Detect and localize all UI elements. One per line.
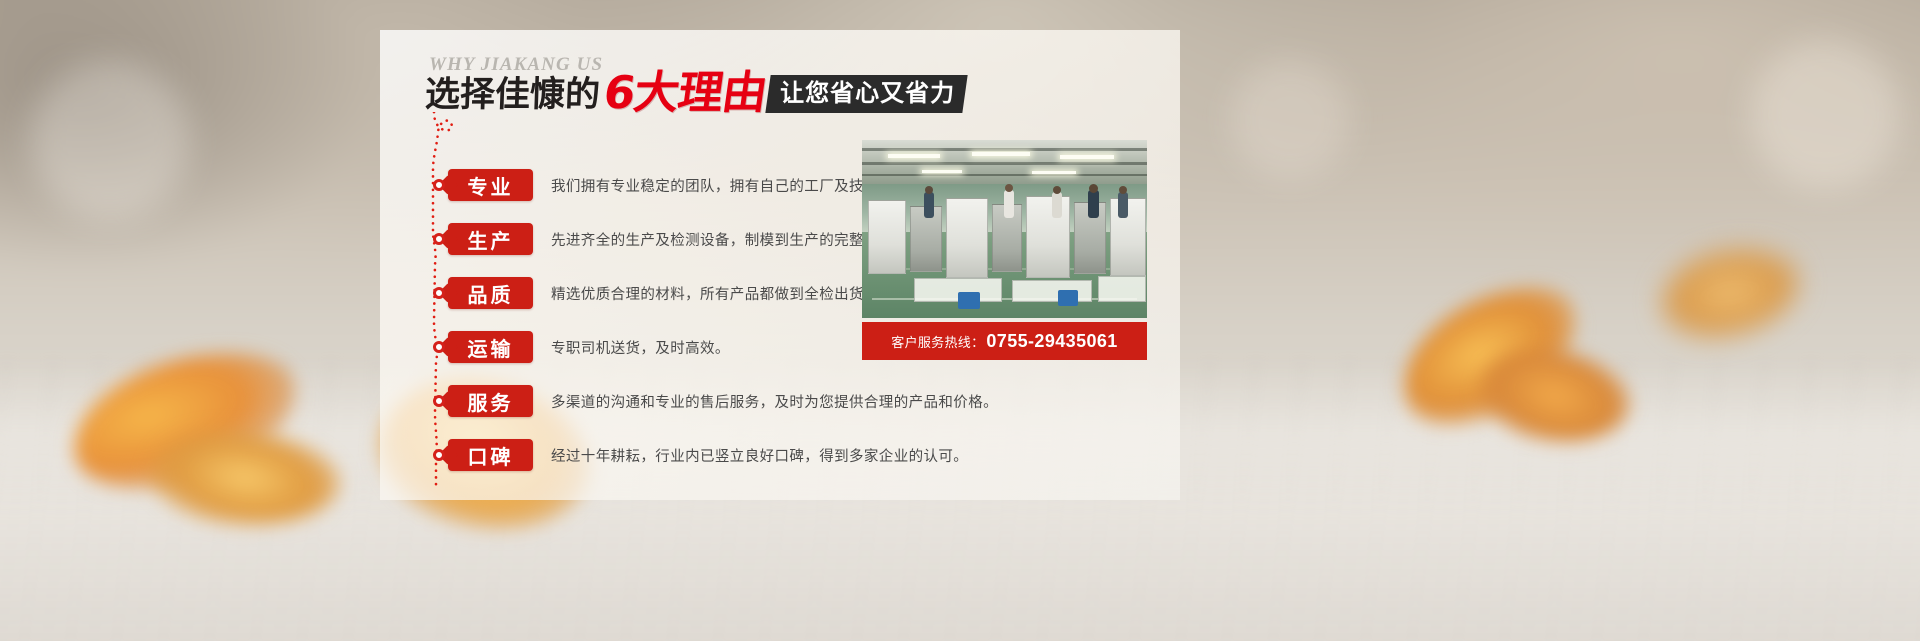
- factory-photo: [862, 140, 1147, 318]
- bullet-node-icon: [433, 233, 445, 245]
- reason-description: 精选优质合理的材料，所有产品都做到全检出货。: [551, 283, 879, 304]
- photo-ceiling-lamp: [1032, 171, 1076, 174]
- reason-badge: 品质: [448, 277, 533, 309]
- list-item[interactable]: 服务 多渠道的沟通和专业的售后服务，及时为您提供合理的产品和价格。: [430, 374, 1130, 428]
- photo-worker-head: [1089, 184, 1098, 193]
- reason-badge: 运输: [448, 331, 533, 363]
- title-cn-red: 6大理由: [601, 72, 769, 113]
- photo-blue-bin: [1058, 290, 1078, 306]
- reason-description: 专职司机送货，及时高效。: [551, 337, 730, 358]
- photo-ceiling-lamp: [1060, 155, 1114, 159]
- reason-badge: 口碑: [448, 439, 533, 471]
- reason-badge-label: 口碑: [468, 441, 514, 470]
- reason-badge: 专业: [448, 169, 533, 201]
- photo-machine: [1026, 196, 1070, 278]
- photo-worker: [1118, 192, 1128, 218]
- photo-workbench: [1012, 280, 1092, 302]
- reason-description: 经过十年耕耘，行业内已竖立良好口碑，得到多家企业的认可。: [551, 445, 968, 466]
- photo-worker-head: [925, 186, 933, 194]
- reason-badge: 服务: [448, 385, 533, 417]
- reason-badge-label: 服务: [468, 387, 514, 416]
- photo-ceiling-beam: [862, 174, 1147, 176]
- reason-badge: 生产: [448, 223, 533, 255]
- photo-ceiling-beam: [862, 162, 1147, 165]
- reason-badge-label: 生产: [468, 225, 514, 254]
- bullet-node-icon: [433, 449, 445, 461]
- photo-ceiling-lamp: [972, 152, 1030, 156]
- title-main-line: 选择佳慷的 6大理由 让您省心又省力: [425, 72, 965, 113]
- photo-worker: [1004, 190, 1014, 218]
- title-cn-dark-text: 让您省心又省力: [780, 81, 955, 105]
- bokeh-light: [1750, 40, 1900, 190]
- photo-ceiling-lamp: [888, 154, 940, 158]
- bokeh-light: [1230, 60, 1350, 180]
- reason-description: 我们拥有专业稳定的团队，拥有自己的工厂及技术。: [551, 175, 894, 196]
- reason-description: 先进齐全的生产及检测设备，制模到生产的完整工艺。: [551, 229, 909, 250]
- photo-ceiling-lamp: [922, 170, 962, 173]
- bokeh-light: [30, 60, 190, 220]
- photo-blue-bin: [958, 292, 980, 309]
- bullet-node-icon: [433, 341, 445, 353]
- photo-ceiling-beam: [862, 148, 1147, 151]
- hotline-label: 客户服务热线：: [891, 332, 984, 351]
- photo-machine: [946, 198, 988, 278]
- photo-machine: [1110, 198, 1146, 276]
- reason-badge-label: 专业: [468, 171, 514, 200]
- bullet-node-icon: [433, 395, 445, 407]
- photo-worker: [924, 192, 934, 218]
- hotline-number[interactable]: 0755-29435061: [986, 331, 1117, 352]
- bullet-node-icon: [433, 179, 445, 191]
- photo-worker: [1052, 192, 1062, 218]
- reason-badge-label: 品质: [468, 279, 514, 308]
- banner-stage: WHY JIAKANG US 选择佳慷的 6大理由 让您省心又省力 专业 我们拥…: [0, 0, 1920, 641]
- title-cn-dark-box: 让您省心又省力: [766, 75, 968, 113]
- hotline-banner: 客户服务热线： 0755-29435061: [862, 322, 1147, 360]
- photo-worker-head: [1053, 186, 1061, 194]
- bullet-node-icon: [433, 287, 445, 299]
- photo-worker-head: [1119, 186, 1127, 194]
- photo-machine: [868, 200, 906, 274]
- photo-worker: [1088, 190, 1099, 218]
- reason-badge-label: 运输: [468, 333, 514, 362]
- list-item[interactable]: 口碑 经过十年耕耘，行业内已竖立良好口碑，得到多家企业的认可。: [430, 428, 1130, 482]
- photo-workbench: [1098, 276, 1146, 302]
- reason-description: 多渠道的沟通和专业的售后服务，及时为您提供合理的产品和价格。: [551, 391, 998, 412]
- title-cn-prefix: 选择佳慷的: [424, 78, 600, 113]
- photo-worker-head: [1005, 184, 1013, 192]
